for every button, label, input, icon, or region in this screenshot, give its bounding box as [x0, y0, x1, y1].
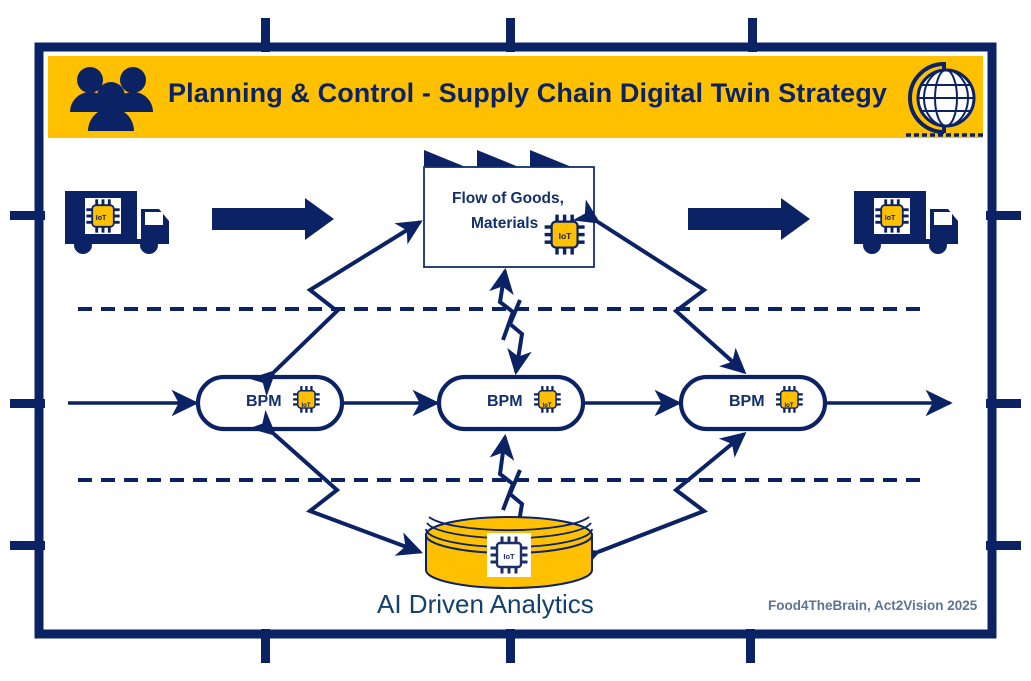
database-node[interactable]: IoT — [426, 517, 592, 588]
iot-chip-label: IoT — [96, 215, 107, 222]
zigzag-database-to-bpm1 — [500, 437, 513, 510]
diagram-canvas: IoT IoT IoT — [0, 0, 1031, 681]
iot-chip-label: IoT — [503, 552, 515, 561]
iot-chip-label: IoT — [785, 403, 794, 409]
iot-chip-label: IoT — [543, 403, 552, 409]
analytics-caption: AI Driven Analytics — [377, 589, 594, 620]
iot-chip-label: IoT — [559, 231, 573, 241]
bpm-label-2: BPM — [729, 393, 765, 411]
zigzag-bpm0-factory — [274, 222, 420, 372]
inbound-truck: IoT — [65, 191, 169, 254]
outbound-block-arrow — [688, 198, 810, 240]
zigzag-bpm1-to-factory — [500, 271, 513, 340]
outbound-truck: IoT — [854, 191, 958, 254]
inbound-block-arrow — [212, 198, 334, 240]
iot-chip-label: IoT — [885, 215, 896, 222]
factory-label-line2: Materials — [471, 215, 538, 233]
zigzag-factory-bpm2 — [598, 222, 744, 372]
factory-node: IoT — [424, 150, 594, 267]
factory-label-line1: Flow of Goods, — [452, 190, 564, 208]
bpm-label-0: BPM — [246, 393, 282, 411]
iot-chip-label: IoT — [302, 403, 311, 409]
footer-credit: Food4TheBrain, Act2Vision 2025 — [768, 598, 977, 613]
zigzag-bpm0-database — [274, 434, 420, 552]
bpm-label-1: BPM — [487, 393, 523, 411]
zigzag-database-bpm2 — [598, 434, 744, 552]
page-title: Planning & Control - Supply Chain Digita… — [168, 78, 887, 109]
